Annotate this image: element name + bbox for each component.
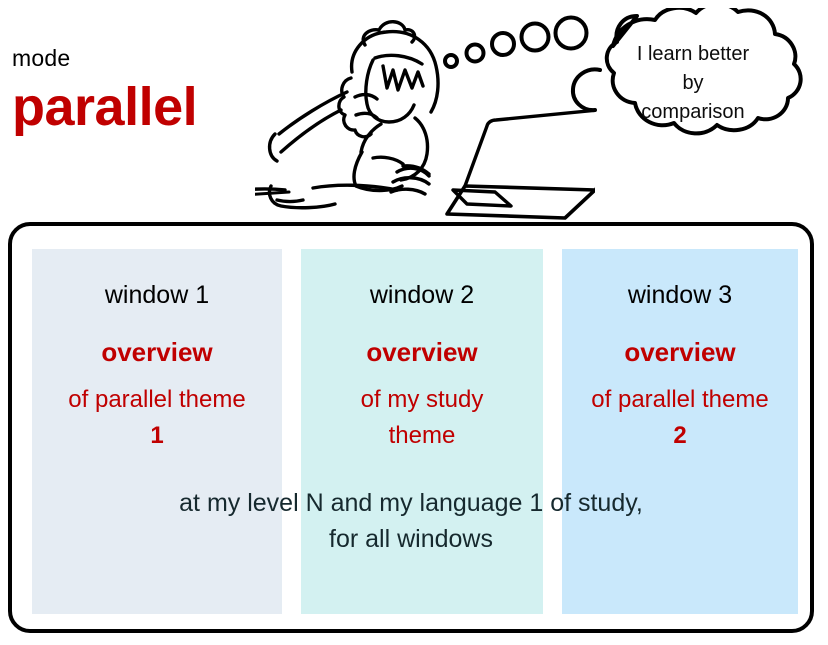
thought-dot-1 — [445, 55, 457, 67]
thought-bubble-line-3: comparison — [583, 98, 803, 127]
window-column-2[interactable]: window 2 overview of my study theme — [301, 249, 543, 614]
mode-value: parallel — [12, 80, 197, 134]
thought-bubble-text: I learn better by comparison — [583, 40, 803, 127]
window-3-title: window 3 — [562, 281, 798, 310]
thought-dot-2 — [467, 45, 484, 62]
thought-dot-3 — [492, 33, 514, 55]
window-column-3[interactable]: window 3 overview of parallel theme 2 — [562, 249, 798, 614]
thought-dot-4 — [522, 24, 549, 51]
window-3-sub-emphasis: 2 — [673, 422, 686, 449]
window-2-overview: overview — [301, 337, 543, 368]
footer-note: at my level N and my language 1 of study… — [16, 485, 806, 557]
window-2-sub-emphasis: theme — [389, 422, 456, 449]
window-2-sub-prefix: of my study — [361, 386, 484, 413]
thought-bubble-line-2: by — [583, 69, 803, 98]
windows-panel: window 1 overview of parallel theme 1 wi… — [8, 222, 814, 633]
window-3-subtitle: of parallel theme 2 — [558, 382, 802, 454]
thought-bubble-line-1: I learn better — [583, 40, 803, 69]
window-2-subtitle: of my study theme — [297, 382, 547, 454]
window-2-title: window 2 — [301, 281, 543, 310]
window-1-sub-emphasis: 1 — [150, 422, 163, 449]
window-column-1[interactable]: window 1 overview of parallel theme 1 — [32, 249, 282, 614]
thought-dot-5 — [556, 18, 587, 49]
window-1-subtitle: of parallel theme 1 — [28, 382, 286, 454]
window-1-sub-prefix: of parallel theme — [68, 386, 245, 413]
mode-label: mode — [12, 45, 70, 72]
window-1-overview: overview — [32, 337, 282, 368]
window-3-overview: overview — [562, 337, 798, 368]
window-3-sub-prefix: of parallel theme — [591, 386, 768, 413]
window-1-title: window 1 — [32, 281, 282, 310]
footer-note-line-1: at my level N and my language 1 of study… — [16, 485, 806, 521]
footer-note-line-2: for all windows — [16, 521, 806, 557]
